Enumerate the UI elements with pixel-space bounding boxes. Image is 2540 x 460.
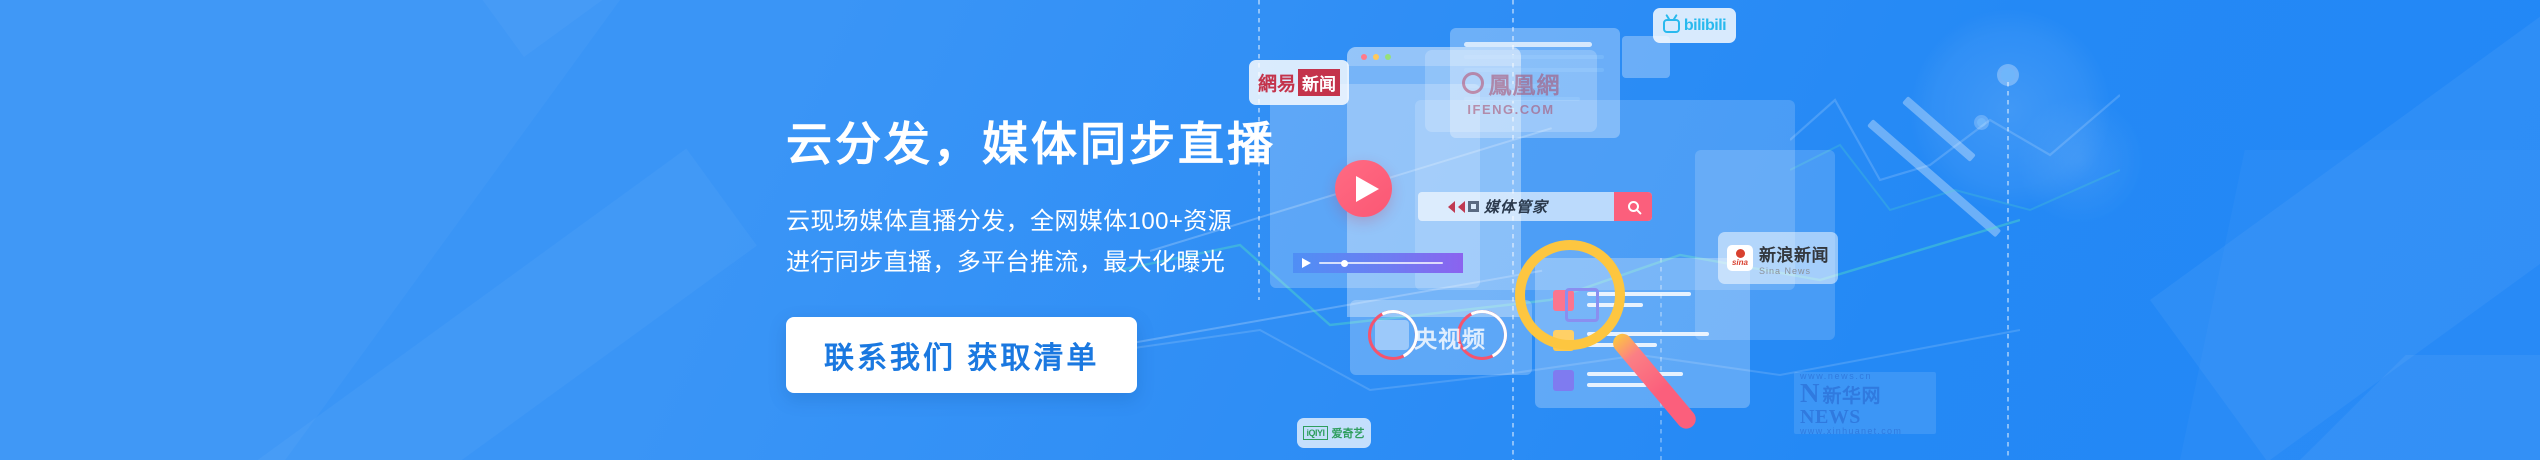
chevron-left-icon [1458, 201, 1465, 213]
banner-subtitle: 云现场媒体直播分发，全网媒体100+资源 进行同步直播，多平台推流，最大化曝光 [786, 201, 1306, 284]
subtitle-line-2: 进行同步直播，多平台推流，最大化曝光 [786, 242, 1306, 283]
netease-news-badge: 新闻 [1298, 69, 1340, 96]
sina-mark-icon: sina [1727, 245, 1753, 271]
window-maximize-dot-icon [1385, 54, 1391, 60]
search-bar[interactable]: 媒体管家 [1418, 192, 1652, 221]
xinhua-name-en: NEWS [1800, 408, 1930, 426]
ifeng-name-cn: 鳳凰網 [1489, 66, 1561, 100]
bg-diagonal-band [2150, 0, 2540, 460]
xinhua-url-bottom: www.xinhuanet.com [1800, 426, 1930, 436]
donut-chart [1368, 310, 1418, 360]
video-panel-label: 央视频 [1414, 320, 1486, 354]
play-button-icon[interactable] [1335, 160, 1392, 217]
magnifier-handle [1609, 330, 1699, 433]
xinhua-letter-icon: N [1800, 382, 1820, 405]
search-icon [1628, 201, 1639, 212]
sina-mark-text: sina [1732, 258, 1748, 267]
bg-quad-right [2180, 150, 2540, 460]
sina-name-en: Sina News [1759, 266, 1829, 276]
contact-cta-button[interactable]: 联系我们 获取清单 [786, 317, 1137, 393]
promo-banner: 云分发，媒体同步直播 云现场媒体直播分发，全网媒体100+资源 进行同步直播，多… [0, 0, 2540, 460]
magnifier-focus-square [1565, 288, 1599, 322]
banner-copy: 云分发，媒体同步直播 云现场媒体直播分发，全网媒体100+资源 进行同步直播，多… [786, 118, 1306, 393]
bilibili-name: bilibili [1684, 17, 1726, 35]
iqiyi-name-cn: 爱奇艺 [1332, 425, 1365, 441]
window-close-dot-icon [1361, 54, 1367, 60]
bg-quad-corner [2300, 355, 2540, 460]
media-logo-sina[interactable]: sina 新浪新闻 Sina News [1718, 232, 1838, 284]
bg-diagonal-band [120, 149, 757, 460]
page-title: 云分发，媒体同步直播 [786, 118, 1306, 171]
play-triangle-icon [1356, 176, 1379, 202]
media-logo-xinhua[interactable]: www.news.cn N 新华网 NEWS www.xinhuanet.com [1794, 372, 1936, 434]
xinhua-name-cn: 新华网 [1823, 381, 1882, 408]
media-logo-ifeng[interactable]: 鳳凰網 IFENG.COM [1425, 50, 1597, 132]
play-small-icon[interactable] [1302, 258, 1311, 268]
progress-knob[interactable] [1341, 260, 1348, 267]
hero-illustration: 媒体管家 央视频 [1290, 0, 2050, 460]
magnifier-lens [1515, 240, 1625, 350]
ifeng-phoenix-icon [1462, 72, 1484, 94]
progress-track[interactable] [1319, 262, 1443, 264]
logo-square-icon [1468, 201, 1479, 212]
subtitle-line-1: 云现场媒体直播分发，全网媒体100+资源 [786, 201, 1306, 242]
video-progress-bar[interactable] [1293, 253, 1463, 273]
iqiyi-mark-text: iQIYI [1303, 426, 1327, 440]
netease-name-cn: 網易 [1258, 69, 1296, 96]
video-stat-panel: 央视频 [1350, 300, 1532, 375]
search-submit-button[interactable] [1614, 192, 1652, 221]
media-logo-netease[interactable]: 網易 新闻 [1249, 60, 1349, 105]
bg-quad-left [0, 0, 620, 460]
ifeng-url: IFENG.COM [1462, 102, 1561, 117]
sina-name-cn: 新浪新闻 [1759, 241, 1829, 266]
media-logo-bilibili[interactable]: bilibili [1653, 8, 1736, 43]
bilibili-tv-icon [1663, 19, 1680, 33]
brand-logo-icon [1448, 201, 1479, 213]
media-logo-iqiyi[interactable]: iQIYI 爱奇艺 [1297, 418, 1371, 448]
chevron-left-icon [1448, 201, 1455, 213]
window-minimize-dot-icon [1373, 54, 1379, 60]
search-brand-text: 媒体管家 [1484, 196, 1548, 217]
